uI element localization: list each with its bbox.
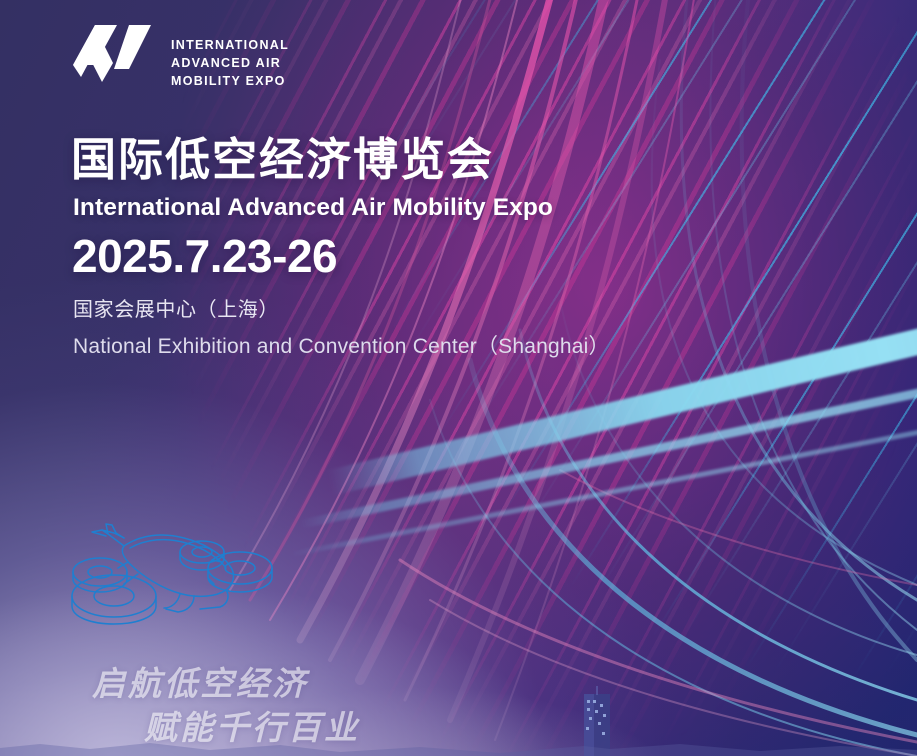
event-slogan: 启航低空经济 赋能千行百业 [92,662,360,750]
logo-wordmark: INTERNATIONAL ADVANCED AIR MOBILITY EXPO [171,36,289,90]
title-chinese: 国际低空经济博览会 [71,137,494,182]
venue-chinese: 国家会展中心（上海） [73,300,279,320]
logo-line-3: MOBILITY EXPO [171,72,289,90]
slogan-line-2: 赋能千行百业 [144,706,360,750]
logo-line-2: ADVANCED AIR [171,54,289,72]
aam-chevron-logo-icon [73,25,153,100]
title-english: International Advanced Air Mobility Expo [73,196,553,221]
event-date: 2025.7.23-26 [72,233,337,279]
slogan-line-1: 启航低空经济 [92,665,308,702]
evtol-aircraft-outline-icon [62,512,292,637]
logo-line-1: INTERNATIONAL [171,36,289,54]
event-logo: INTERNATIONAL ADVANCED AIR MOBILITY EXPO [73,25,289,100]
venue-english: National Exhibition and Convention Cente… [73,336,610,357]
expo-poster: INTERNATIONAL ADVANCED AIR MOBILITY EXPO… [0,0,917,756]
